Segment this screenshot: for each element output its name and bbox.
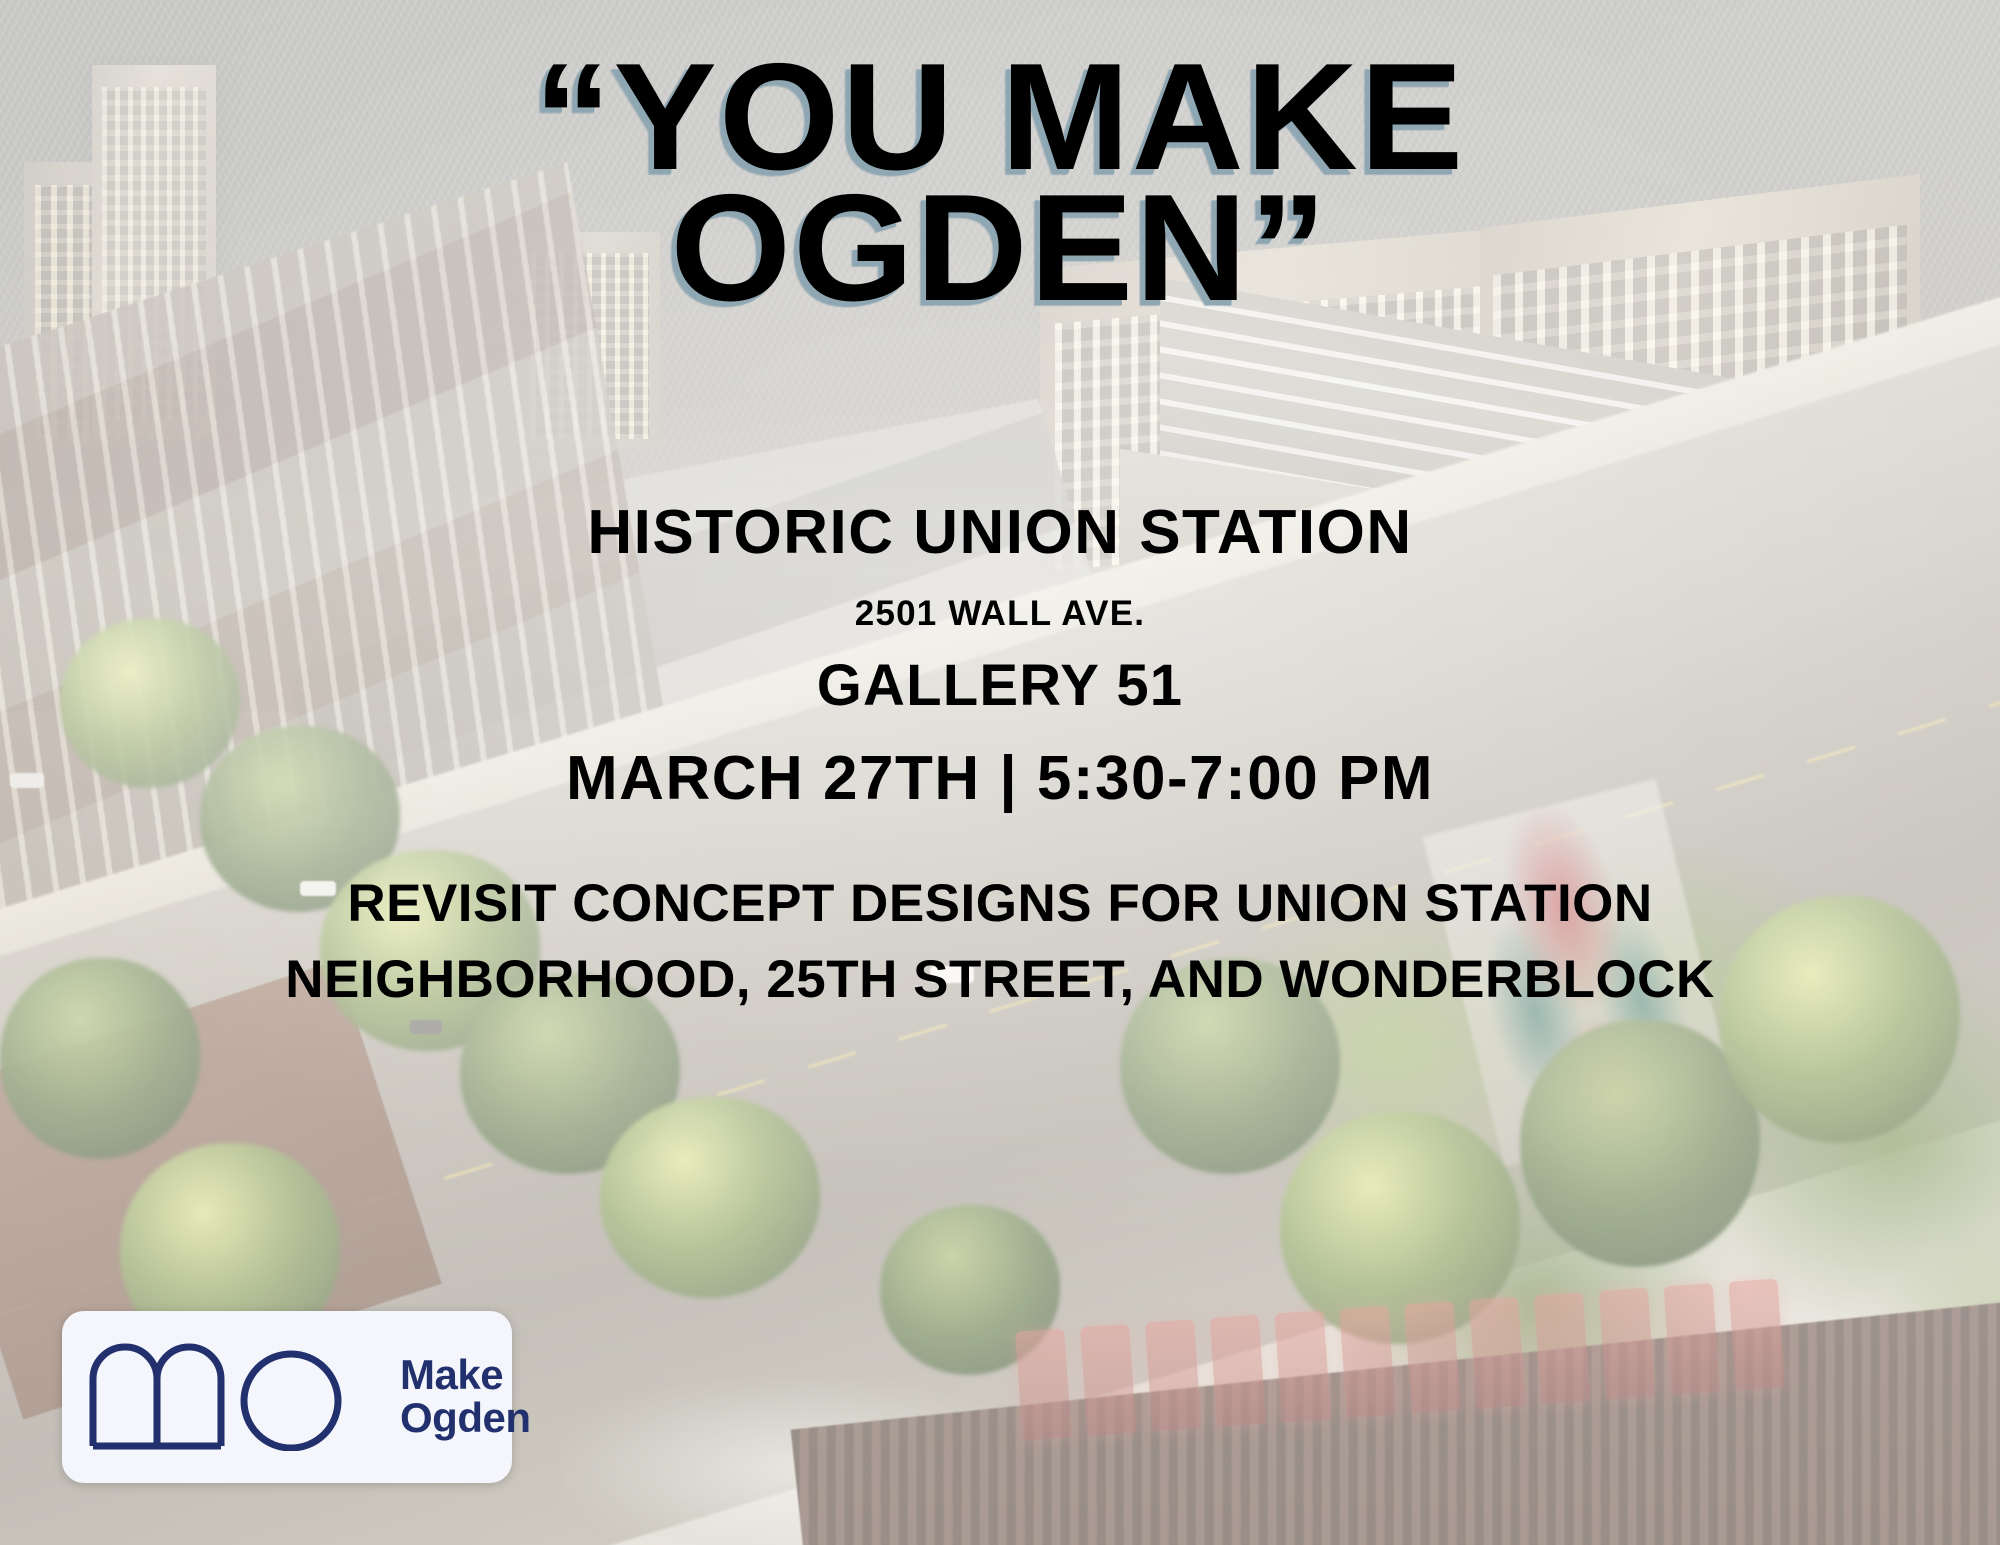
event-description: REVISIT CONCEPT DESIGNS FOR UNION STATIO… bbox=[180, 866, 1820, 1017]
gallery-name: GALLERY 51 bbox=[817, 652, 1184, 719]
mo-monogram-icon bbox=[88, 1339, 378, 1456]
make-ogden-logo-badge[interactable]: Make Ogden bbox=[62, 1311, 512, 1483]
logo-wordmark: Make Ogden bbox=[400, 1354, 531, 1440]
logo-line-1: Make bbox=[400, 1351, 503, 1398]
logo-line-2: Ogden bbox=[400, 1394, 531, 1441]
event-poster: “YOU MAKE OGDEN” HISTORIC UNION STATION … bbox=[0, 0, 2000, 1545]
venue-name: HISTORIC UNION STATION bbox=[587, 497, 1412, 568]
poster-headline: “YOU MAKE OGDEN” bbox=[534, 52, 1465, 313]
venue-address: 2501 WALL AVE. bbox=[855, 594, 1145, 634]
event-date-time: MARCH 27TH | 5:30-7:00 PM bbox=[566, 743, 1434, 814]
